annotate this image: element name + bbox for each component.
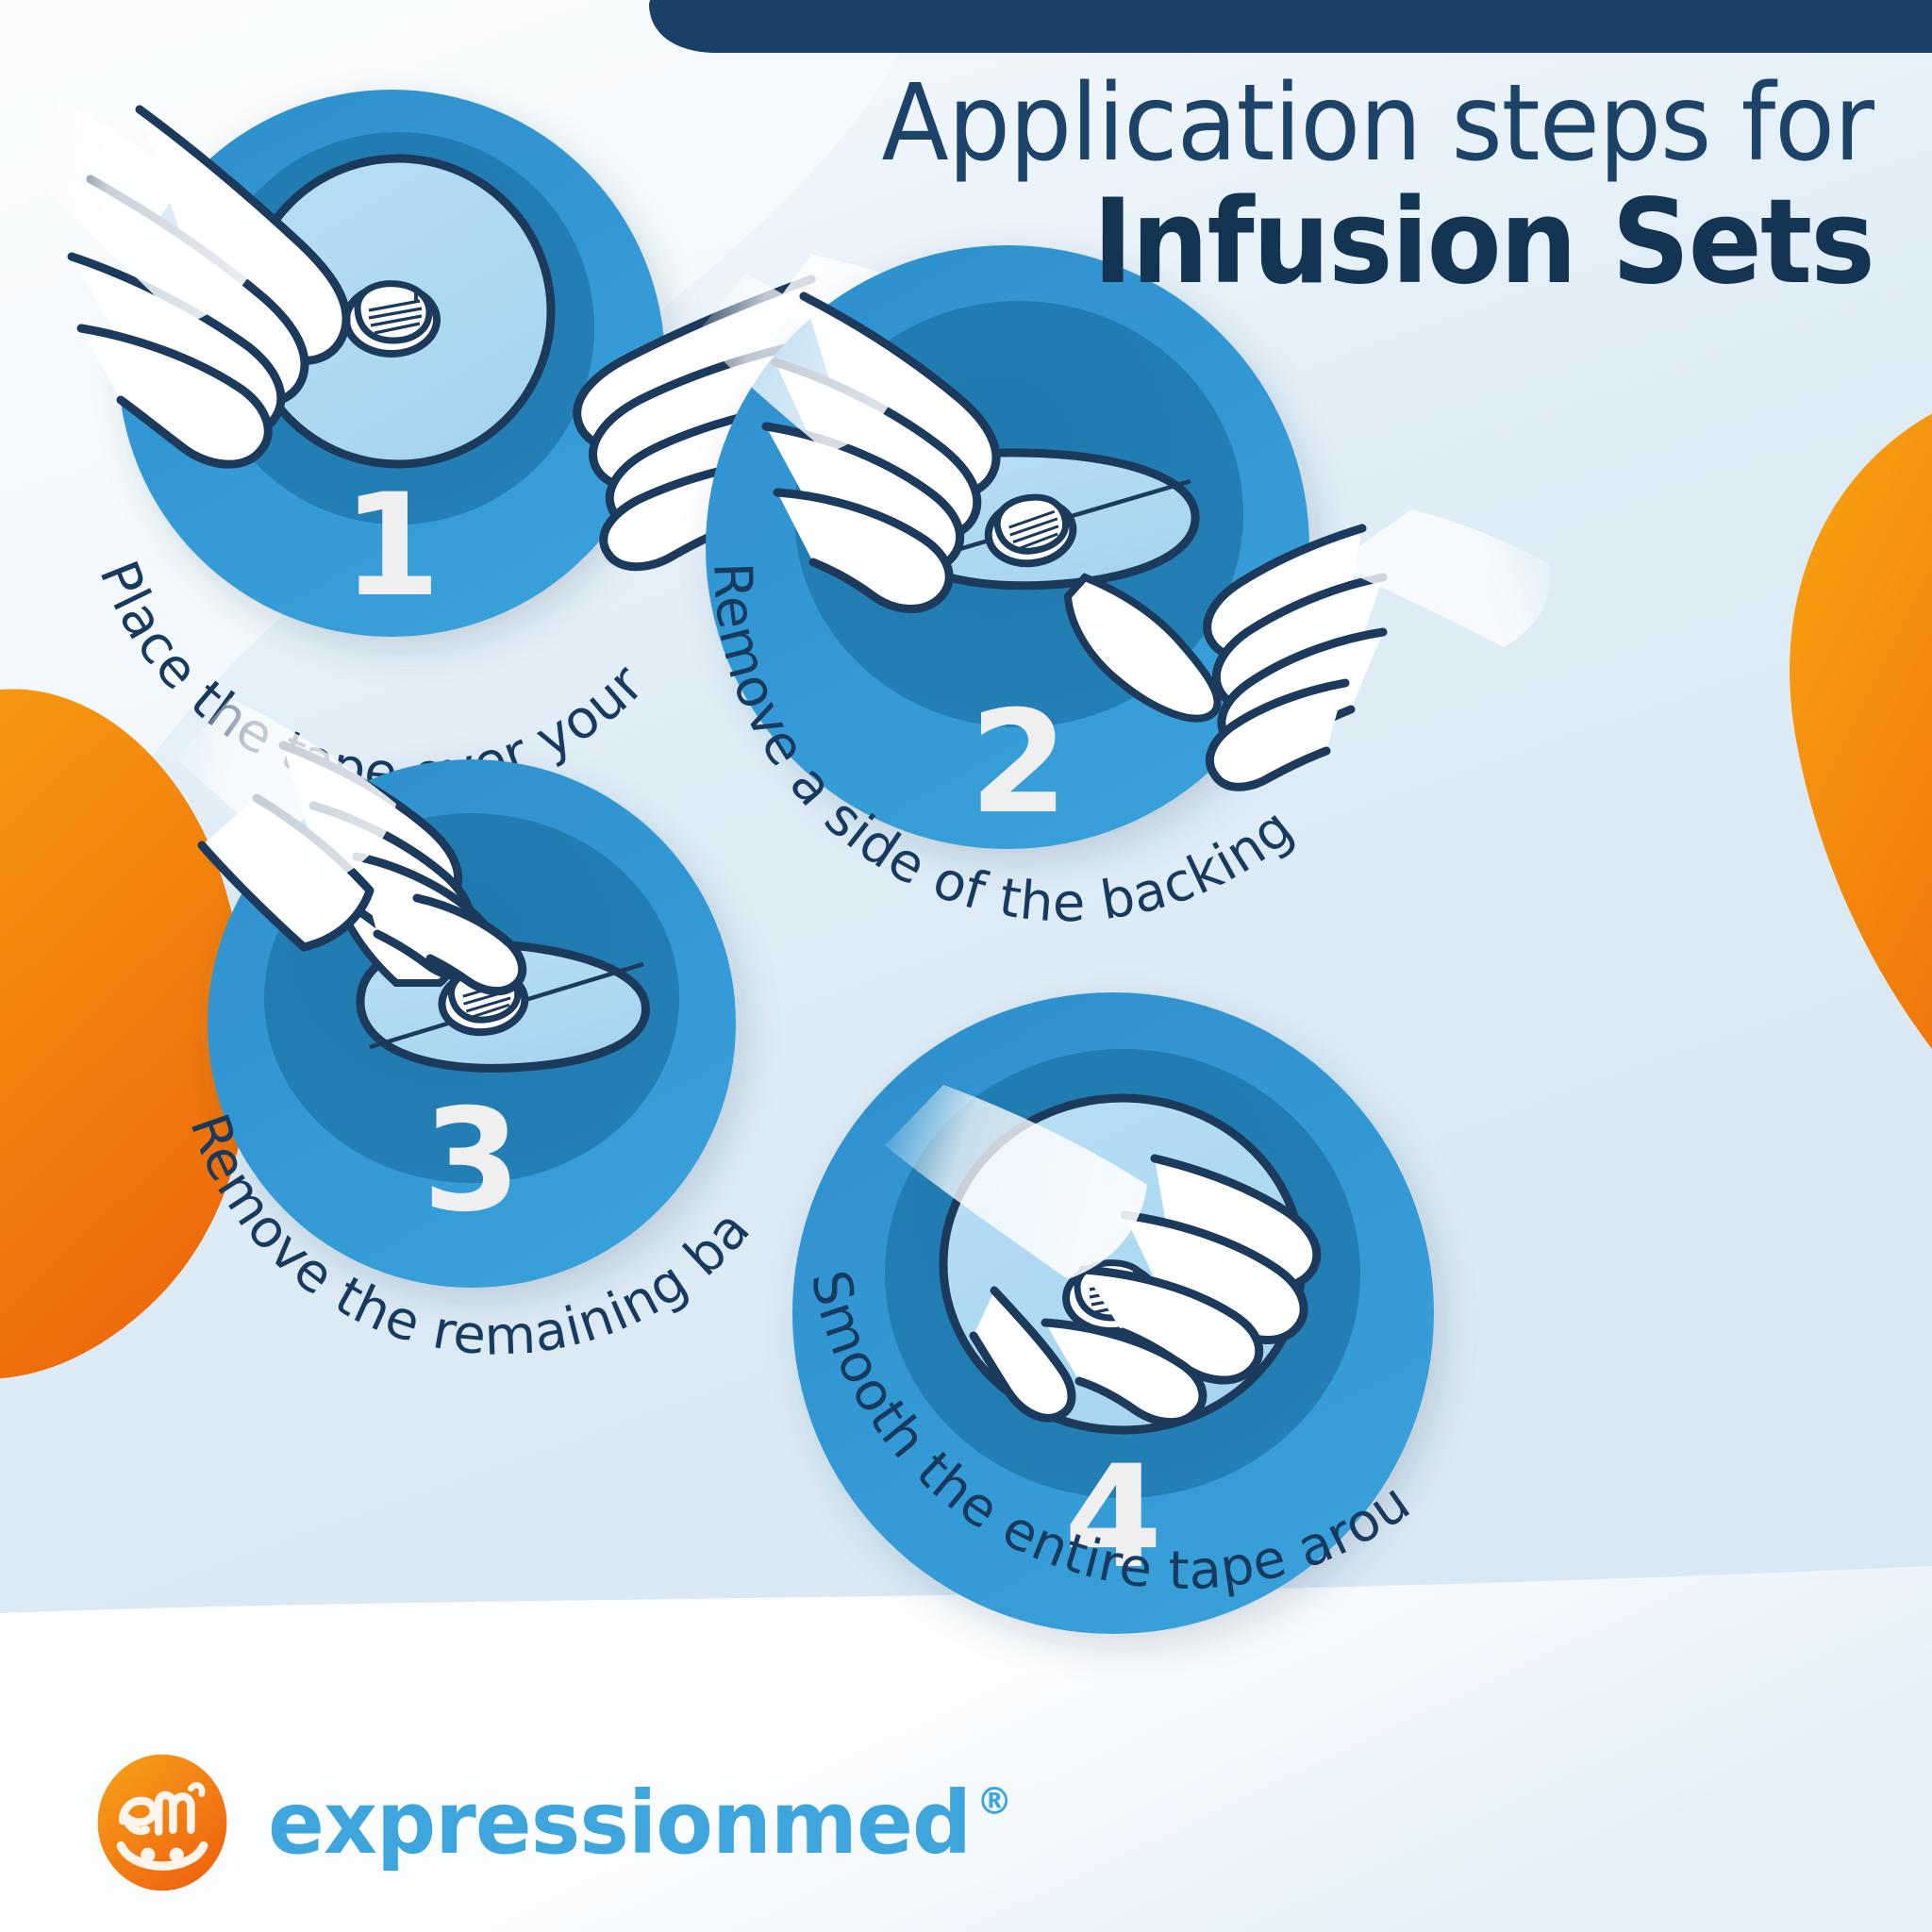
wordmark-text: expressionmed [268, 1773, 971, 1874]
step-1-number: 1 [342, 464, 441, 628]
expressionmed-smiley-icon [91, 1751, 234, 1894]
brand-logo[interactable]: expressionmed ® [91, 1751, 1042, 1894]
title-line-1: Application steps for [698, 70, 1874, 177]
page-title: Application steps for Infusion Sets [609, 70, 1874, 304]
title-line-2: Infusion Sets [698, 181, 1874, 304]
brand-wordmark: expressionmed ® [268, 1773, 1011, 1874]
step-3-number: 3 [423, 1079, 521, 1243]
registered-trademark-symbol: ® [976, 1780, 1011, 1824]
step-1-infusion-device [346, 284, 437, 354]
infographic-canvas: 1 Place the tape over your site [0, 0, 1932, 1932]
step-2-number: 2 [970, 681, 1068, 845]
